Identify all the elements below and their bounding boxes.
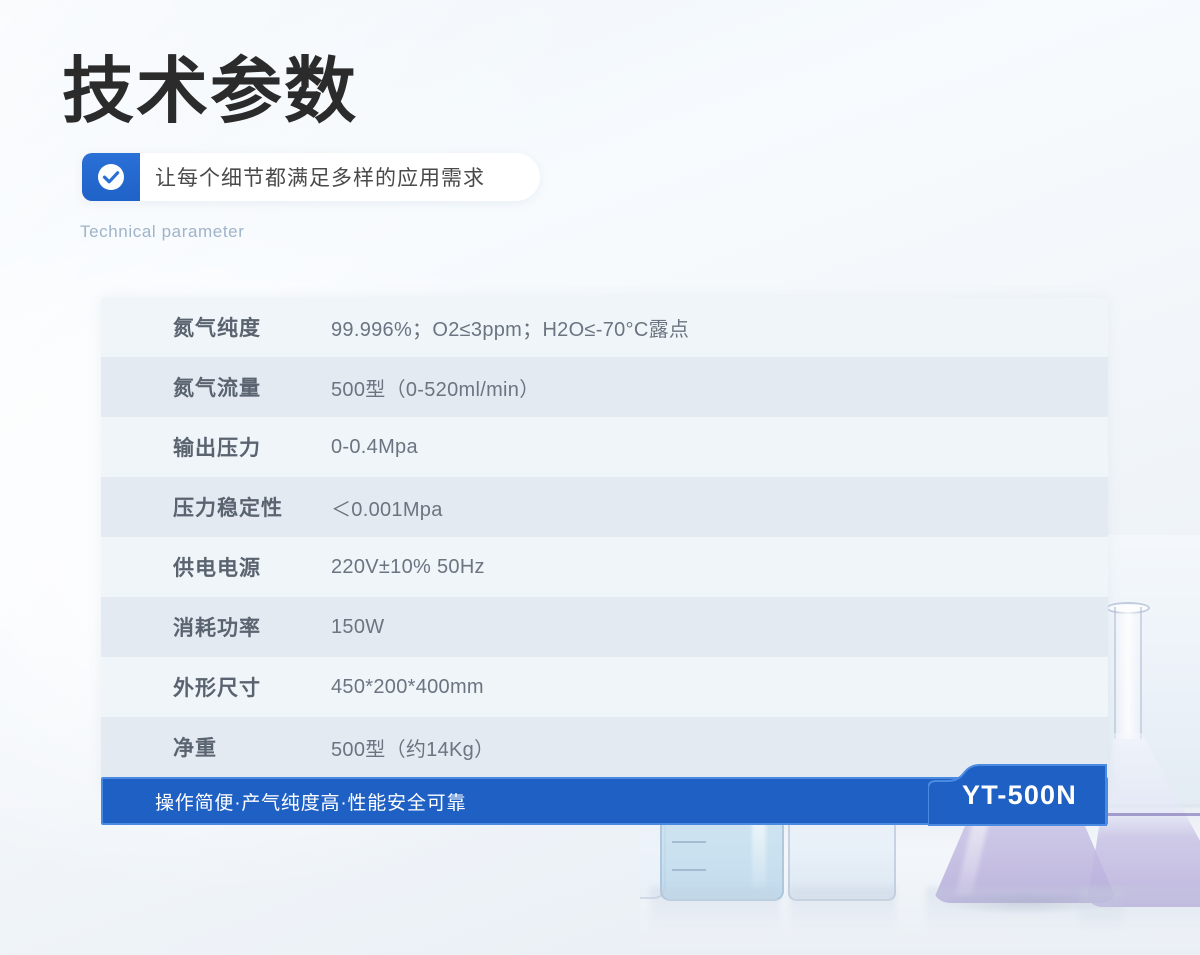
spec-value: 99.996%；O2≤3ppm；H2O≤-70°C露点 — [331, 313, 1108, 342]
technical-parameter-page: 技术参数 让每个细节都满足多样的应用需求 Technical parameter… — [0, 0, 1200, 955]
table-row: 输出压力 0-0.4Mpa — [101, 417, 1108, 477]
spec-label: 供电电源 — [101, 552, 331, 582]
table-row: 供电电源 220V±10% 50Hz — [101, 537, 1108, 597]
spec-value: 500型（约14Kg） — [331, 733, 1108, 762]
flask-lip — [1106, 602, 1150, 614]
spec-value: 0-0.4Mpa — [331, 436, 1108, 459]
table-row: 压力稳定性 ＜0.001Mpa — [101, 477, 1108, 537]
bench-reflection — [790, 887, 896, 941]
model-number: YT-500N — [962, 763, 1077, 827]
liquid-level-line — [1094, 813, 1200, 816]
spec-label: 消耗功率 — [101, 612, 331, 642]
bench-reflection — [1080, 887, 1200, 941]
footer-feature-text: 操作简便·产气纯度高·性能安全可靠 — [155, 777, 466, 825]
bench-reflection — [650, 887, 780, 941]
spec-label: 氮气流量 — [101, 372, 331, 402]
table-row: 氮气流量 500型（0-520ml/min） — [101, 357, 1108, 417]
graduation-mark — [672, 869, 706, 871]
spec-label: 外形尺寸 — [101, 672, 331, 702]
flask-neck — [1114, 607, 1142, 739]
table-row: 外形尺寸 450*200*400mm — [101, 657, 1108, 717]
spec-label: 氮气纯度 — [101, 312, 331, 342]
spec-value: 220V±10% 50Hz — [331, 556, 1108, 579]
page-title: 技术参数 — [62, 48, 358, 134]
spec-label: 压力稳定性 — [101, 492, 331, 522]
spec-label: 净重 — [101, 732, 331, 762]
spec-label: 输出压力 — [101, 432, 331, 462]
spec-table: 氮气纯度 99.996%；O2≤3ppm；H2O≤-70°C露点 氮气流量 50… — [101, 297, 1108, 787]
check-circle-icon — [82, 153, 140, 201]
graduation-mark — [672, 841, 706, 843]
bench-reflection — [926, 887, 1122, 941]
table-row: 氮气纯度 99.996%；O2≤3ppm；H2O≤-70°C露点 — [101, 297, 1108, 357]
lab-bench-surface — [640, 805, 1200, 955]
tagline-text: 让每个细节都满足多样的应用需求 — [155, 153, 485, 201]
subtitle-english: Technical parameter — [80, 222, 244, 242]
table-row: 消耗功率 150W — [101, 597, 1108, 657]
flask-shadow — [938, 893, 1112, 915]
spec-value: ＜0.001Mpa — [331, 493, 1108, 522]
spec-value: 150W — [331, 616, 1108, 639]
spec-value: 500型（0-520ml/min） — [331, 373, 1108, 402]
spec-value: 450*200*400mm — [331, 676, 1108, 699]
